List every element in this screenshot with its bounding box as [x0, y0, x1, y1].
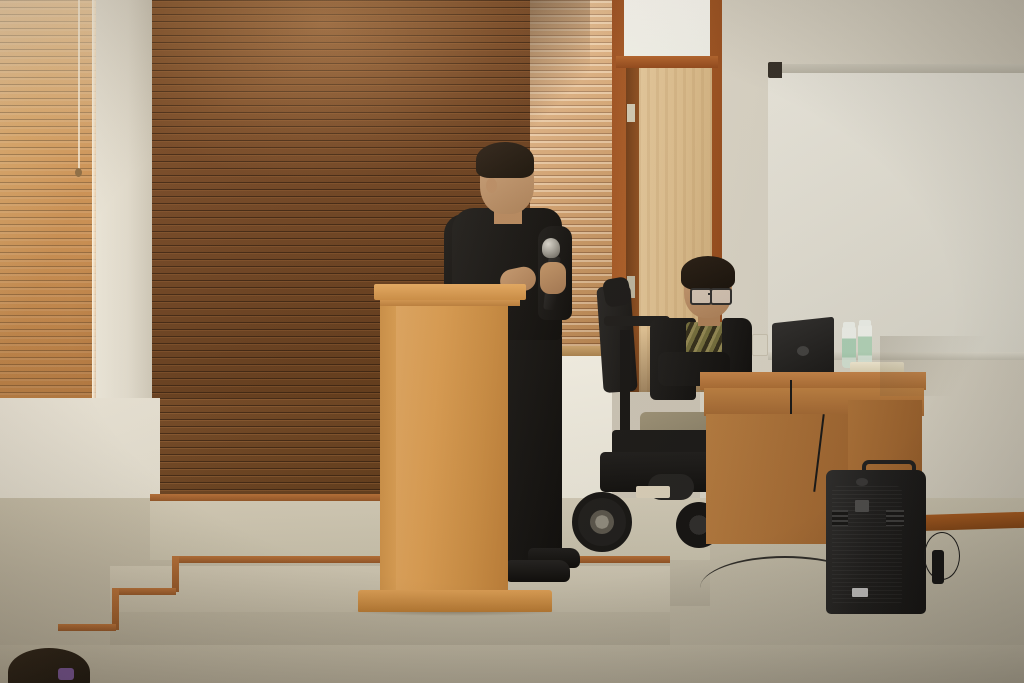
hair-clip	[58, 668, 74, 680]
floor-carpet-front	[0, 645, 1024, 683]
eyeglasses-left-lens-icon	[690, 288, 712, 305]
blind-cord-knob[interactable]	[75, 168, 82, 177]
presenter-shoe-front	[506, 560, 570, 582]
whiteboard-top-rail	[768, 64, 1024, 73]
sunlight-patch	[152, 0, 534, 230]
mic-stand-base[interactable]	[932, 550, 944, 584]
step-nosing-a	[150, 494, 412, 501]
blind-cord[interactable]	[78, 0, 80, 172]
step-nosing-f	[58, 624, 116, 631]
podium-column	[396, 304, 508, 592]
speaker-tweeter-icon	[856, 478, 868, 486]
wheelchair-wheel-hub	[590, 510, 614, 534]
wheelchair-footplate	[636, 486, 670, 498]
speaker-vent-right	[886, 510, 904, 526]
presenter-hand-right	[540, 262, 566, 294]
podium-base-plinth	[358, 590, 552, 612]
presenter-hair	[476, 142, 534, 178]
door-hinge-top-icon	[627, 104, 635, 122]
speaker-badge	[855, 500, 869, 512]
speaker-vent-left	[832, 510, 848, 526]
presenter-legs	[500, 332, 562, 580]
power-socket[interactable]	[752, 334, 768, 356]
window-blinds-left	[0, 0, 100, 400]
transom-window	[624, 0, 710, 58]
presenter-ear	[486, 178, 497, 193]
step-nosing-d	[118, 588, 176, 595]
seated-man-hair	[681, 256, 735, 290]
step-nosing-c	[172, 556, 179, 592]
water-bottle-2[interactable]	[858, 324, 872, 366]
whiteboard-corner-bracket	[768, 62, 782, 78]
transom-rail	[616, 56, 718, 68]
laptop-logo-icon	[797, 346, 809, 356]
water-bottle-2-cap[interactable]	[859, 320, 871, 326]
presentation-photo: Conference presentation in a lecture roo…	[0, 0, 1024, 683]
eyeglasses-right-lens-icon	[710, 288, 732, 305]
blinds-shadow	[530, 0, 590, 130]
water-bottle-1-cap[interactable]	[843, 322, 855, 328]
desk-cable	[790, 380, 792, 414]
microphone-head-icon[interactable]	[542, 238, 560, 258]
desk-wall-shadow	[880, 336, 1000, 396]
wheelchair-headrest	[602, 276, 632, 308]
podium-top	[374, 284, 526, 300]
eyeglasses-bridge	[708, 293, 712, 295]
speaker-logo-icon	[852, 588, 868, 597]
whiteboard	[768, 64, 1024, 360]
